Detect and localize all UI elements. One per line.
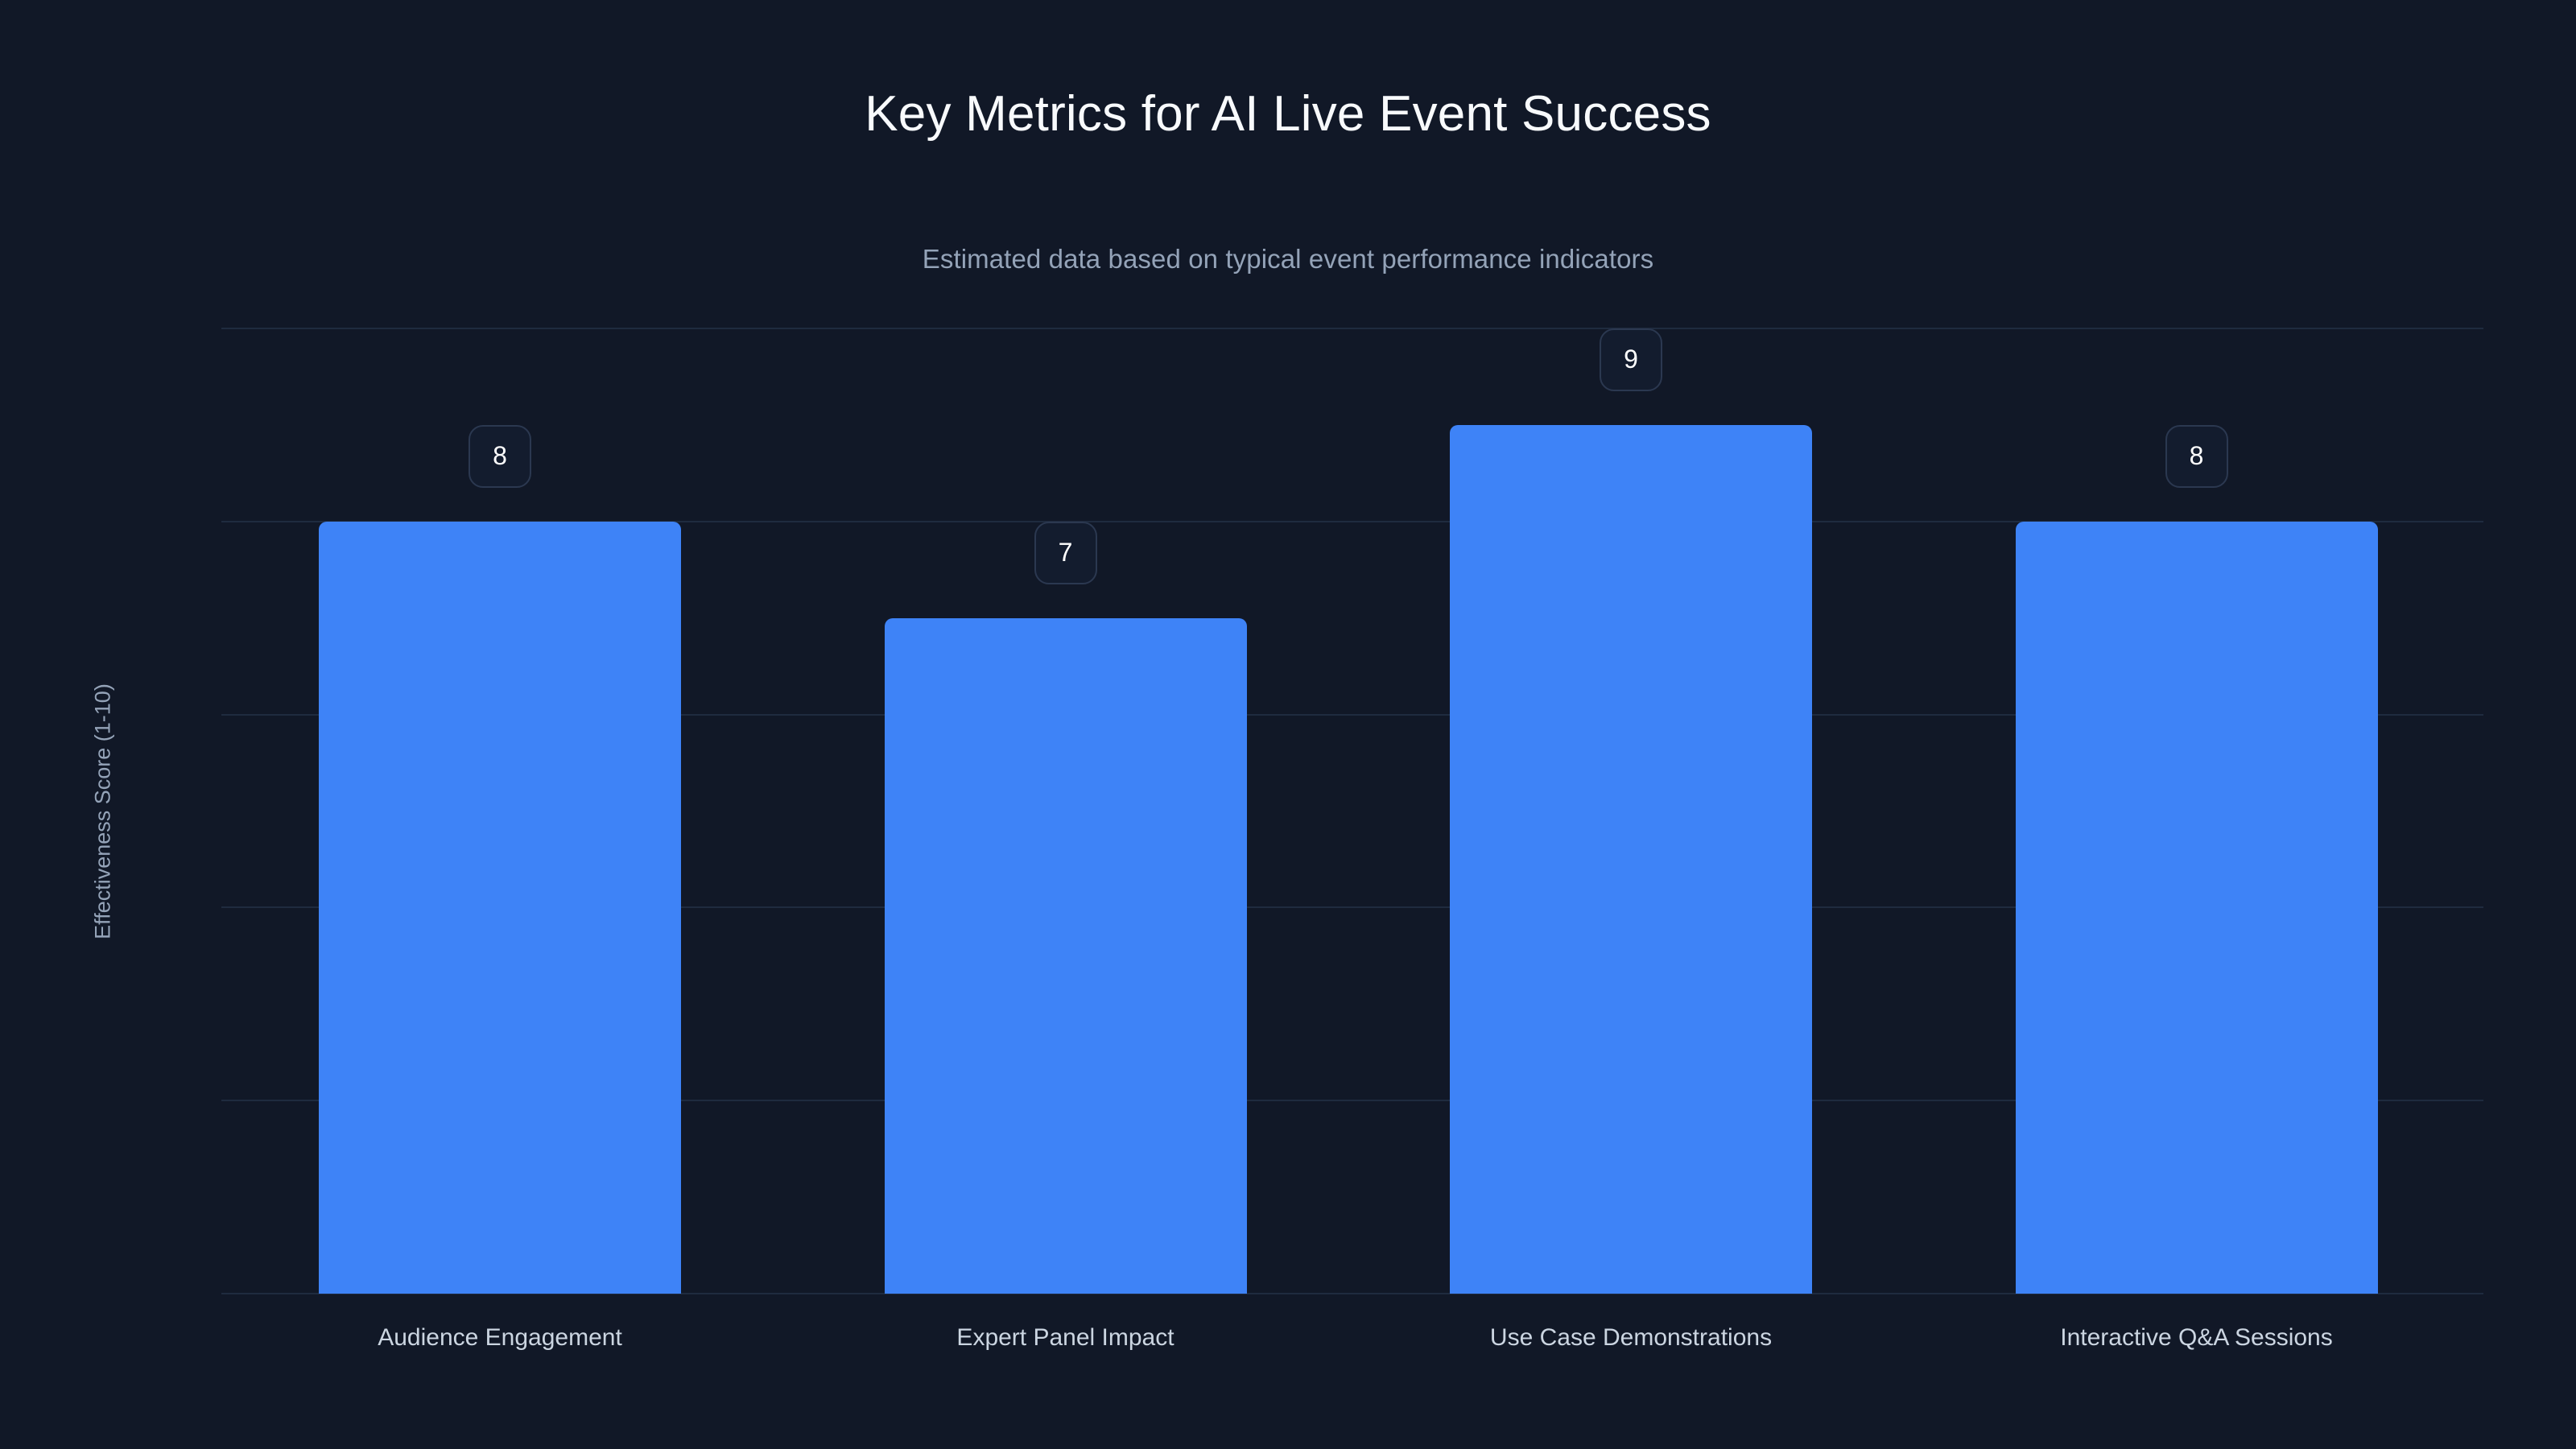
bar-value-label: 9 bbox=[1600, 328, 1662, 391]
x-axis-tick-label: Interactive Q&A Sessions bbox=[2060, 1324, 2333, 1352]
bar-value-label: 7 bbox=[1034, 522, 1097, 584]
bar[interactable] bbox=[2016, 522, 2378, 1294]
bar-value-label: 8 bbox=[469, 425, 531, 488]
bar[interactable] bbox=[1450, 425, 1812, 1294]
x-axis-tick-label: Use Case Demonstrations bbox=[1490, 1324, 1772, 1352]
x-axis-tick-label: Expert Panel Impact bbox=[956, 1324, 1174, 1352]
bar[interactable] bbox=[319, 522, 681, 1294]
y-axis-title: Effectiveness Score (1-10) bbox=[91, 683, 116, 939]
bar[interactable] bbox=[885, 618, 1247, 1294]
chart-subtitle: Estimated data based on typical event pe… bbox=[0, 245, 2576, 274]
gridline bbox=[221, 328, 2483, 329]
bar-value-label: 8 bbox=[2165, 425, 2228, 488]
x-axis-tick-label: Audience Engagement bbox=[378, 1324, 622, 1352]
chart-title: Key Metrics for AI Live Event Success bbox=[0, 87, 2576, 142]
bar-chart: Key Metrics for AI Live Event Success Es… bbox=[0, 0, 2576, 1449]
plot-area: 0246810 bbox=[221, 328, 2483, 1294]
